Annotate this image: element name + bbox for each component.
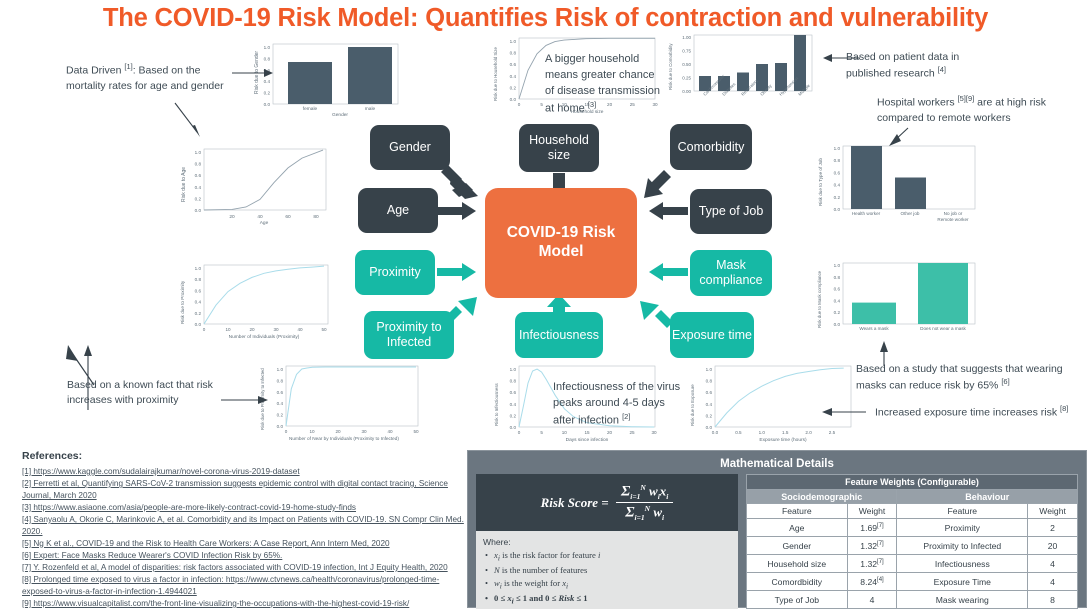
node-type-of-job-label: Type of Job <box>699 204 764 219</box>
formula-column: Risk Score = Σi=1N wixi Σi=1N wi Where: … <box>476 474 738 609</box>
references-panel: References: [1] https://www.kaggle.com/s… <box>22 449 467 609</box>
reference-item[interactable]: [1] https://www.kaggle.com/sudalairajkum… <box>22 466 467 478</box>
risk-score-formula: Risk Score = Σi=1N wixi Σi=1N wi <box>476 474 738 531</box>
cell-weight: 1.32[7] <box>847 537 897 555</box>
node-proximity-to-infected-label: Proximity to Infected <box>366 320 452 350</box>
group-header-sociodemographic: Sociodemographic <box>747 490 897 504</box>
reference-item[interactable]: [2] Ferretti et al, Quantifying SARS-CoV… <box>22 478 467 501</box>
table-row: Gender 1.32[7] Proximity to Infected 20 <box>747 537 1078 555</box>
cell-weight: 20 <box>1028 537 1078 555</box>
cell-feature: Proximity <box>897 519 1028 537</box>
node-type-of-job[interactable]: Type of Job <box>690 189 772 234</box>
annotation-exposure-note: Increased exposure time increases risk [… <box>875 404 1075 421</box>
annotation-proximity-note: Based on a known fact that risk increase… <box>67 378 232 408</box>
node-gender[interactable]: Gender <box>370 125 450 170</box>
node-proximity-to-infected[interactable]: Proximity to Infected <box>364 311 454 359</box>
reference-item[interactable]: [8] Prolonged time exposed to virus a fa… <box>22 574 467 597</box>
reference-item[interactable]: [5] Ng K et al., COVID-19 and the Risk t… <box>22 538 467 550</box>
node-age-label: Age <box>387 203 409 218</box>
group-header-behaviour: Behaviour <box>897 490 1078 504</box>
node-infectiousness-label: Infectiousness <box>519 328 599 343</box>
col-header-feature-1: Feature <box>747 504 848 519</box>
annotation-infectiousness-note: Infectiousness of the virus peaks around… <box>553 380 683 429</box>
col-header-feature-2: Feature <box>897 504 1028 519</box>
reference-item[interactable]: [4] Sanyaolu A, Okorie C, Marinkovic A, … <box>22 514 467 537</box>
reference-item[interactable]: [6] Expert: Face Masks Reduce Wearer's C… <box>22 550 467 562</box>
cell-weight: 8.24[4] <box>847 573 897 591</box>
col-header-weight-2: Weight <box>1028 504 1078 519</box>
formula-numerator: Σi=1N wixi <box>616 483 673 503</box>
node-household-size-label: Household size <box>521 133 597 163</box>
annotation-hospital-workers: Hospital workers [5][9] are at high risk… <box>877 94 1087 126</box>
annotation-mask-note: Based on a study that suggests that wear… <box>856 362 1081 394</box>
node-exposure-time-label: Exposure time <box>672 328 752 343</box>
cell-feature: Mask wearing <box>897 591 1028 609</box>
cell-weight: 1.32[7] <box>847 555 897 573</box>
node-mask-compliance-label: Mask compliance <box>692 258 770 288</box>
node-covid-risk-model[interactable]: COVID-19 Risk Model <box>485 188 637 298</box>
where-label: Where: <box>483 536 731 549</box>
table-row: Comordbidity 8.24[4] Exposure Time 4 <box>747 573 1078 591</box>
reference-item[interactable]: [3] https://www.asiaone.com/asia/people-… <box>22 502 467 514</box>
cell-weight: 4 <box>1028 573 1078 591</box>
math-panel-title: Mathematical Details <box>476 456 1078 474</box>
references-heading: References: <box>22 449 467 464</box>
formula-label: Risk Score <box>541 495 598 511</box>
cell-feature: Exposure Time <box>897 573 1028 591</box>
formula-fraction: Σi=1N wixi Σi=1N wi <box>616 483 673 522</box>
col-header-weight-1: Weight <box>847 504 897 519</box>
where-item: wi is the weight for xi <box>483 577 731 592</box>
node-proximity[interactable]: Proximity <box>355 250 435 295</box>
table-row: Household size 1.32[7] Infectiousness 4 <box>747 555 1078 573</box>
cell-feature: Proximity to Infected <box>897 537 1028 555</box>
node-covid-risk-model-label: COVID-19 Risk Model <box>487 224 635 261</box>
node-mask-compliance[interactable]: Mask compliance <box>690 250 772 296</box>
node-proximity-label: Proximity <box>369 265 420 280</box>
feature-weights-table: Feature Weights (Configurable) Sociodemo… <box>746 474 1078 609</box>
cell-feature: Type of Job <box>747 591 848 609</box>
cell-feature: Household size <box>747 555 848 573</box>
reference-item[interactable]: [9] https://www.visualcapitalist.com/the… <box>22 598 467 610</box>
cell-weight: 2 <box>1028 519 1078 537</box>
weights-table-title: Feature Weights (Configurable) <box>747 475 1078 490</box>
formula-where-box: Where: xi is the risk factor for feature… <box>476 531 738 609</box>
annotation-data-driven: Data Driven [1]: Based on the mortality … <box>66 62 236 94</box>
cell-feature: Gender <box>747 537 848 555</box>
cell-weight: 8 <box>1028 591 1078 609</box>
cell-weight: 4 <box>1028 555 1078 573</box>
formula-denominator: Σi=1N wi <box>620 503 669 522</box>
node-age[interactable]: Age <box>358 188 438 233</box>
where-item: 0 ≤ xi ≤ 1 and 0 ≤ Risk ≤ 1 <box>483 592 731 607</box>
table-row: Age 1.69[7] Proximity 2 <box>747 519 1078 537</box>
cell-feature: Comordbidity <box>747 573 848 591</box>
where-item: N is the number of features <box>483 564 731 577</box>
cell-feature: Infectiousness <box>897 555 1028 573</box>
node-household-size[interactable]: Household size <box>519 124 599 172</box>
equals-sign: = <box>598 495 612 511</box>
cell-weight: 4 <box>847 591 897 609</box>
where-item: xi is the risk factor for feature i <box>483 549 731 564</box>
annotation-patient-data: Based on patient data in published resea… <box>846 50 1006 82</box>
node-gender-label: Gender <box>389 140 431 155</box>
reference-item[interactable]: [7] Y. Rozenfeld et al, A model of dispa… <box>22 562 467 574</box>
mathematical-details-panel: Mathematical Details Risk Score = Σi=1N … <box>467 450 1087 608</box>
cell-weight: 1.69[7] <box>847 519 897 537</box>
node-exposure-time[interactable]: Exposure time <box>670 312 754 358</box>
node-infectiousness[interactable]: Infectiousness <box>515 312 603 358</box>
node-comorbidity-label: Comorbidity <box>678 140 745 155</box>
table-row: Type of Job 4 Mask wearing 8 <box>747 591 1078 609</box>
annotation-household-note: A bigger household means greater chance … <box>545 52 665 117</box>
cell-feature: Age <box>747 519 848 537</box>
node-comorbidity[interactable]: Comorbidity <box>670 124 752 170</box>
